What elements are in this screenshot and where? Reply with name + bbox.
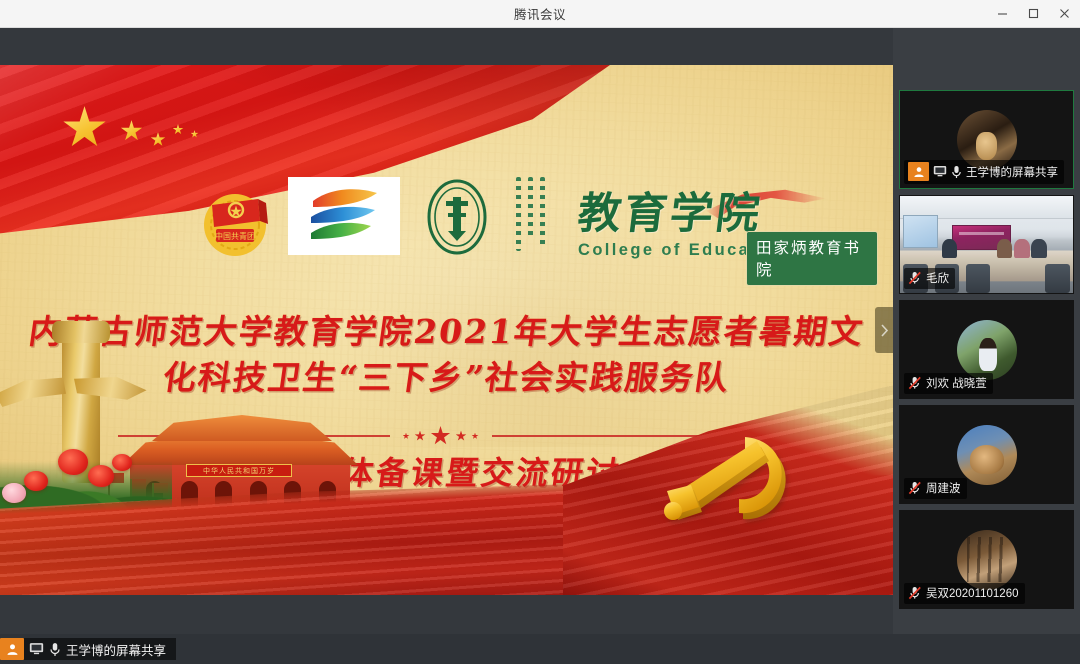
maximize-button[interactable] — [1018, 0, 1049, 27]
participant-tile[interactable]: 刘欢 战晓萱 — [899, 300, 1074, 399]
huabiao-cap-icon — [52, 321, 110, 343]
host-badge-icon — [908, 162, 929, 181]
status-bar: 王学博的屏幕共享 — [0, 634, 1080, 664]
screen-share-icon — [29, 642, 44, 656]
microphone-muted-icon — [908, 481, 922, 495]
active-share-indicator[interactable]: 王学博的屏幕共享 — [0, 638, 176, 660]
avatar — [957, 320, 1017, 380]
window-controls — [987, 0, 1080, 27]
avatar — [957, 425, 1017, 485]
participant-tile[interactable]: 毛欣 — [899, 195, 1074, 294]
participant-name: 毛欣 — [926, 270, 949, 286]
participant-tile[interactable]: 周建波 — [899, 405, 1074, 504]
university-seal-emblem-icon — [424, 175, 490, 259]
participant-name: 王学博的屏幕共享 — [966, 164, 1058, 180]
host-badge-icon — [0, 638, 24, 660]
minimize-button[interactable] — [987, 0, 1018, 27]
share-label: 王学博的屏幕共享 — [66, 640, 166, 659]
slide-canvas: 中国共青团 — [0, 65, 893, 595]
participant-tile[interactable]: 王学博的屏幕共享 — [899, 90, 1074, 189]
microphone-muted-icon — [908, 586, 922, 600]
microphone-muted-icon — [908, 376, 922, 390]
participant-label: 王学博的屏幕共享 — [904, 160, 1064, 184]
title-bar: 腾讯会议 — [0, 0, 1080, 28]
avatar — [957, 530, 1017, 590]
participant-name: 周建波 — [926, 480, 961, 496]
participant-label: 毛欣 — [904, 268, 955, 289]
microphone-muted-icon — [908, 271, 922, 285]
college-name-cn: 教育学院 — [575, 193, 880, 236]
academy-plaque: 田家炳教育书院 — [746, 231, 878, 286]
participant-label: 刘欢 战晓萱 — [904, 373, 993, 394]
cpc-hammer-sickle-emblem-icon — [653, 423, 801, 533]
huabiao-wing-left-icon — [0, 377, 66, 407]
participant-name: 刘欢 战晓萱 — [926, 375, 987, 391]
close-button[interactable] — [1049, 0, 1080, 27]
participant-label: 吴双20201101260 — [904, 583, 1025, 604]
microphone-icon — [49, 642, 61, 657]
participant-name: 吴双20201101260 — [926, 585, 1019, 601]
tencent-meeting-window: 腾讯会议 — [0, 0, 1080, 664]
mongolian-script-icon — [498, 177, 562, 259]
screen-share-icon — [933, 165, 947, 178]
meeting-body: 中国共青团 — [0, 28, 1080, 634]
gate-board: 中华人民共和国万岁 — [186, 464, 292, 477]
participant-sidebar[interactable]: 王学博的屏幕共享 — [893, 28, 1080, 634]
microphone-icon — [951, 165, 962, 179]
university-wave-logo-icon — [288, 177, 400, 255]
communist-youth-league-emblem-icon: 中国共青团 — [196, 175, 274, 261]
gate-board-text: 中华人民共和国万岁 — [203, 466, 275, 476]
divider-stars-icon — [390, 426, 492, 446]
shared-screen-stage: 中国共青团 — [0, 28, 893, 634]
college-wordmark: 教育学院 College of Education 田家炳教育书院 — [578, 193, 878, 260]
collapse-panel-button[interactable] — [875, 307, 893, 353]
shared-slide: 中国共青团 — [0, 65, 893, 595]
participant-tile[interactable]: 吴双20201101260 — [899, 510, 1074, 609]
svg-text:中国共青团: 中国共青团 — [215, 231, 255, 241]
participant-label: 周建波 — [904, 478, 967, 499]
window-title: 腾讯会议 — [0, 4, 1080, 23]
